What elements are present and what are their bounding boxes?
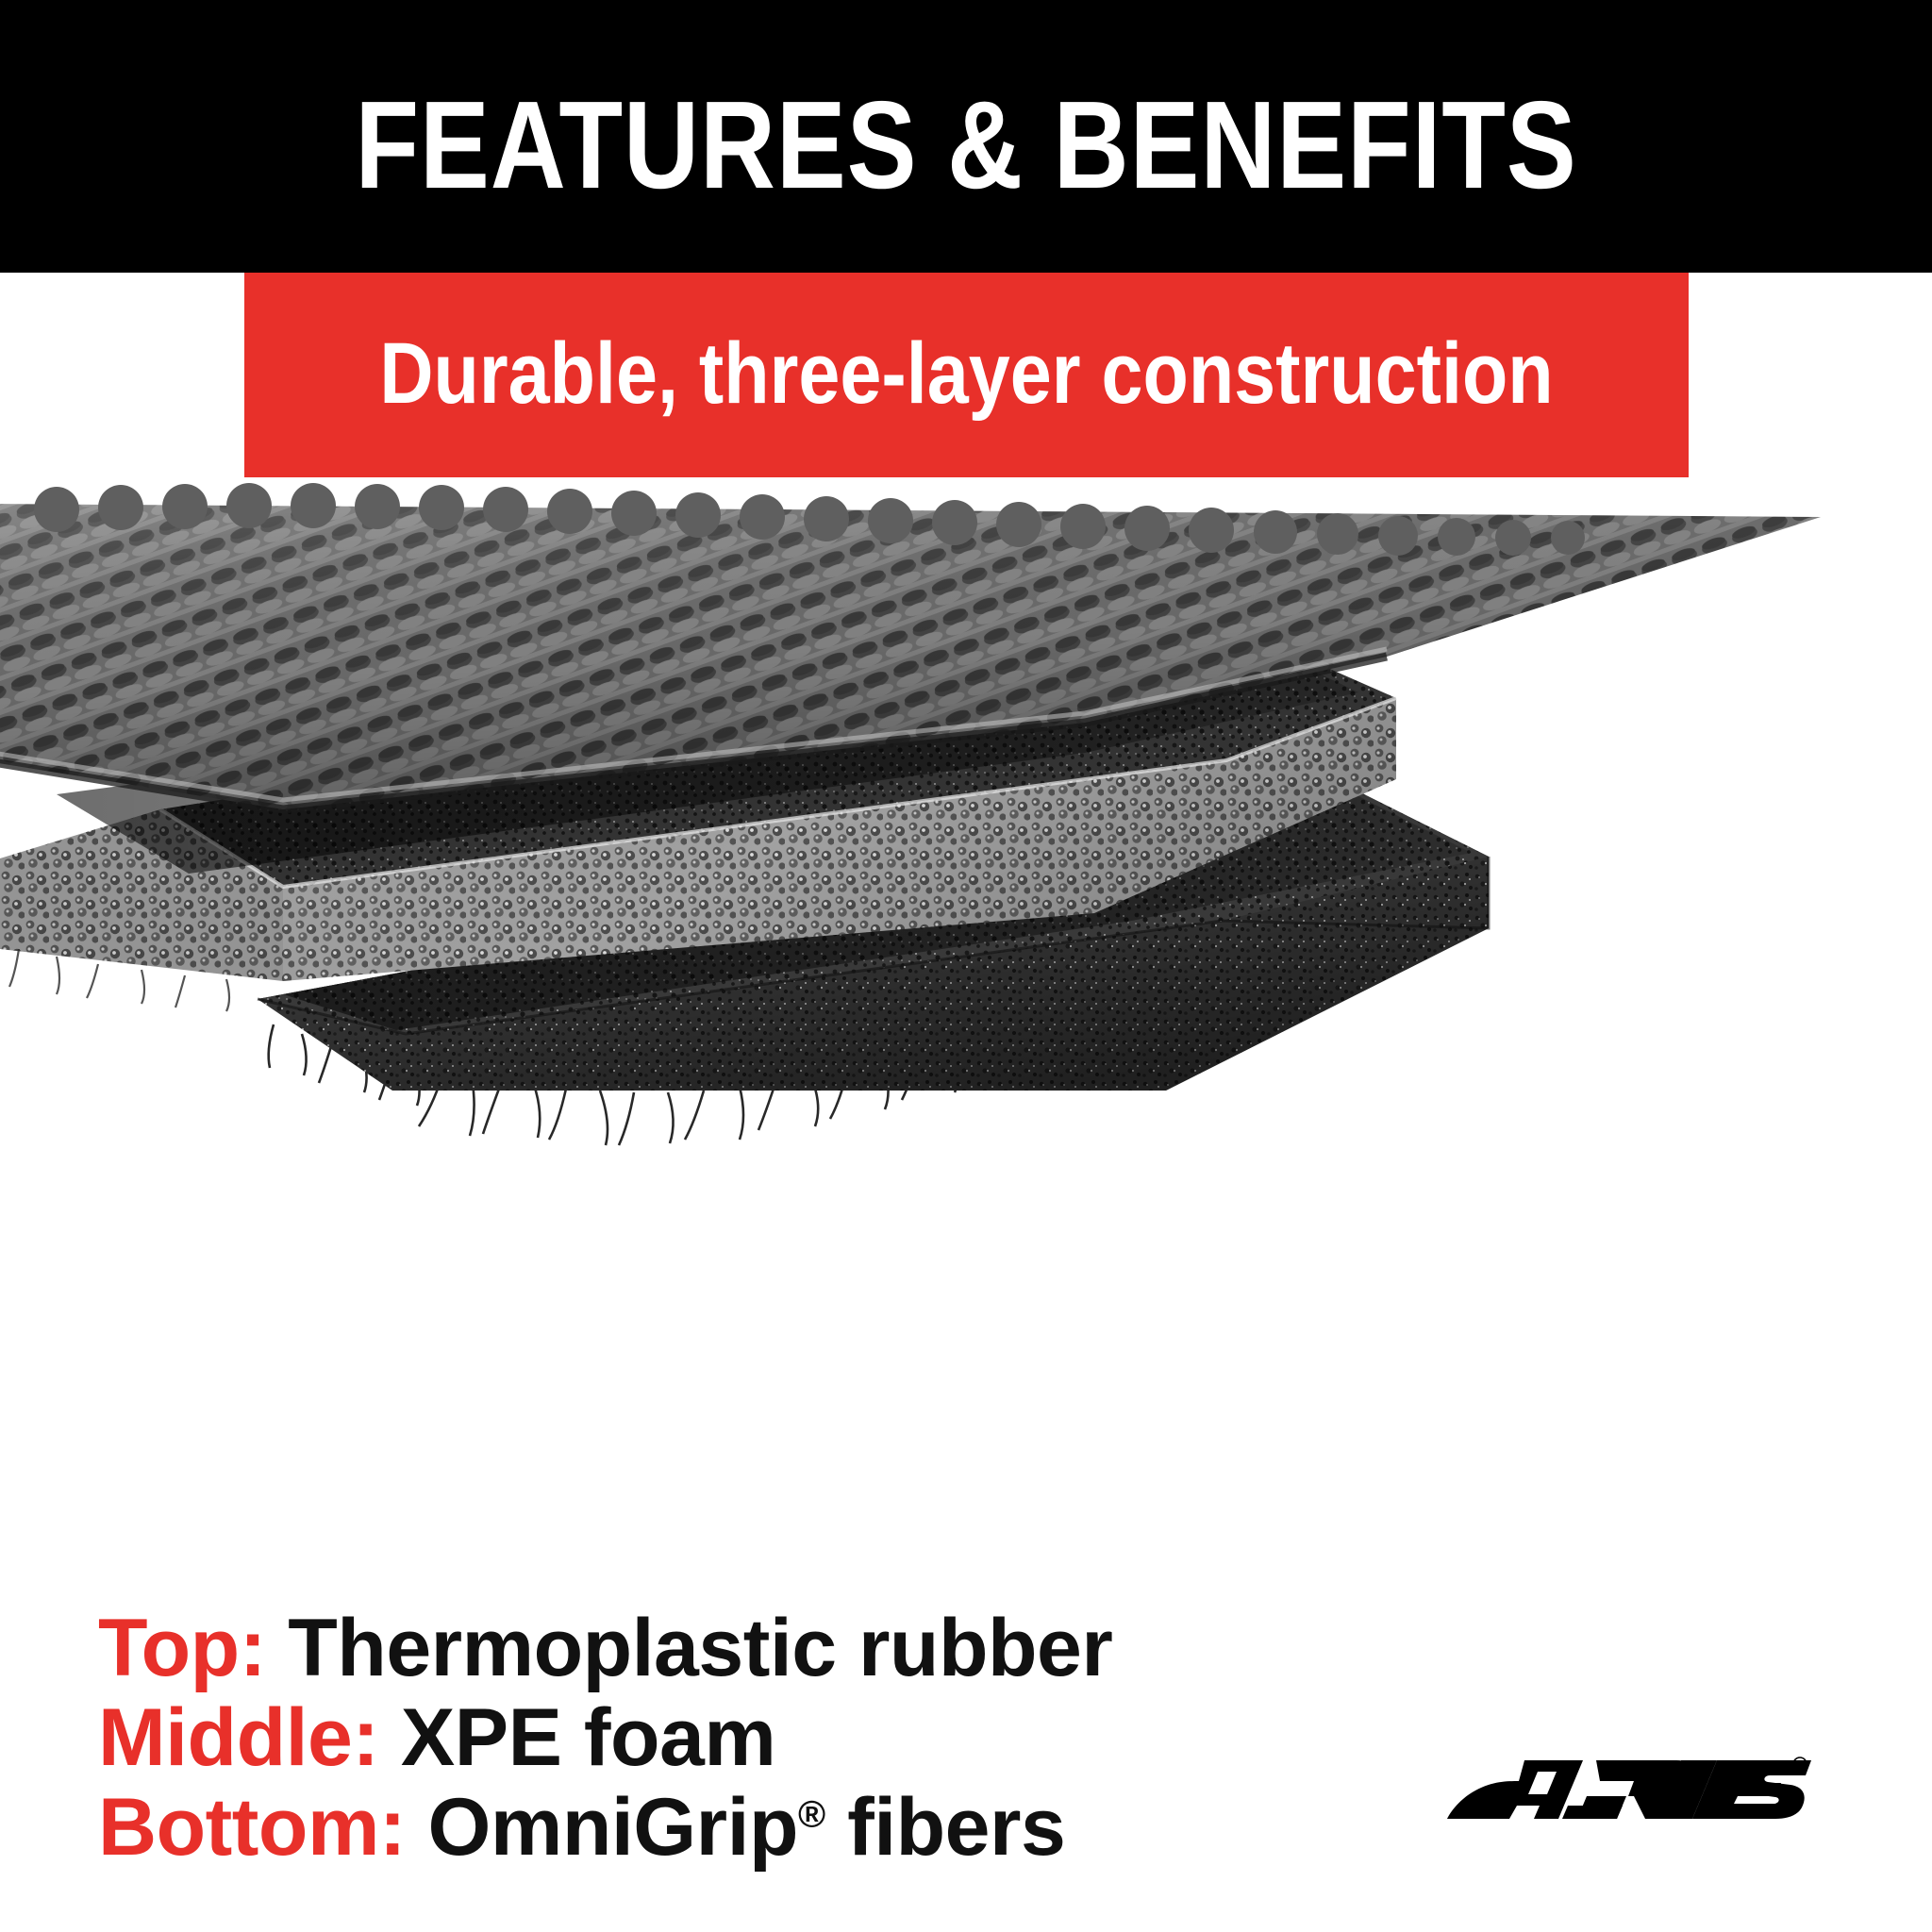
aries-wordmark-icon: R	[1434, 1753, 1811, 1857]
spec-label-bottom: Bottom:	[98, 1782, 406, 1873]
spec-line-bottom: Bottom: OmniGrip® fibers	[98, 1783, 1324, 1873]
spec-value-bottom-suffix: fibers	[825, 1782, 1066, 1873]
spec-label-middle: Middle:	[98, 1692, 378, 1783]
page-title: FEATURES & BENEFITS	[155, 0, 1777, 273]
svg-text:R: R	[1797, 1760, 1804, 1770]
product-layers-illustration	[0, 477, 1932, 1572]
registered-trademark-icon: ®	[798, 1793, 825, 1835]
spec-value-top: Thermoplastic rubber	[288, 1603, 1112, 1693]
spec-line-top: Top: Thermoplastic rubber	[98, 1604, 1324, 1693]
spec-value-middle: XPE foam	[401, 1692, 775, 1783]
spec-line-middle: Middle: XPE foam	[98, 1693, 1324, 1783]
header-bar: FEATURES & BENEFITS	[0, 0, 1932, 273]
aries-logo: R	[1434, 1753, 1811, 1857]
subtitle-text: Durable, three-layer construction	[345, 273, 1588, 477]
product-image	[0, 477, 1932, 1572]
subtitle-banner: Durable, three-layer construction	[244, 273, 1689, 477]
spec-value-bottom: OmniGrip	[427, 1782, 798, 1873]
layer-spec-list: Top: Thermoplastic rubber Middle: XPE fo…	[98, 1604, 1324, 1873]
spec-label-top: Top:	[98, 1603, 266, 1693]
